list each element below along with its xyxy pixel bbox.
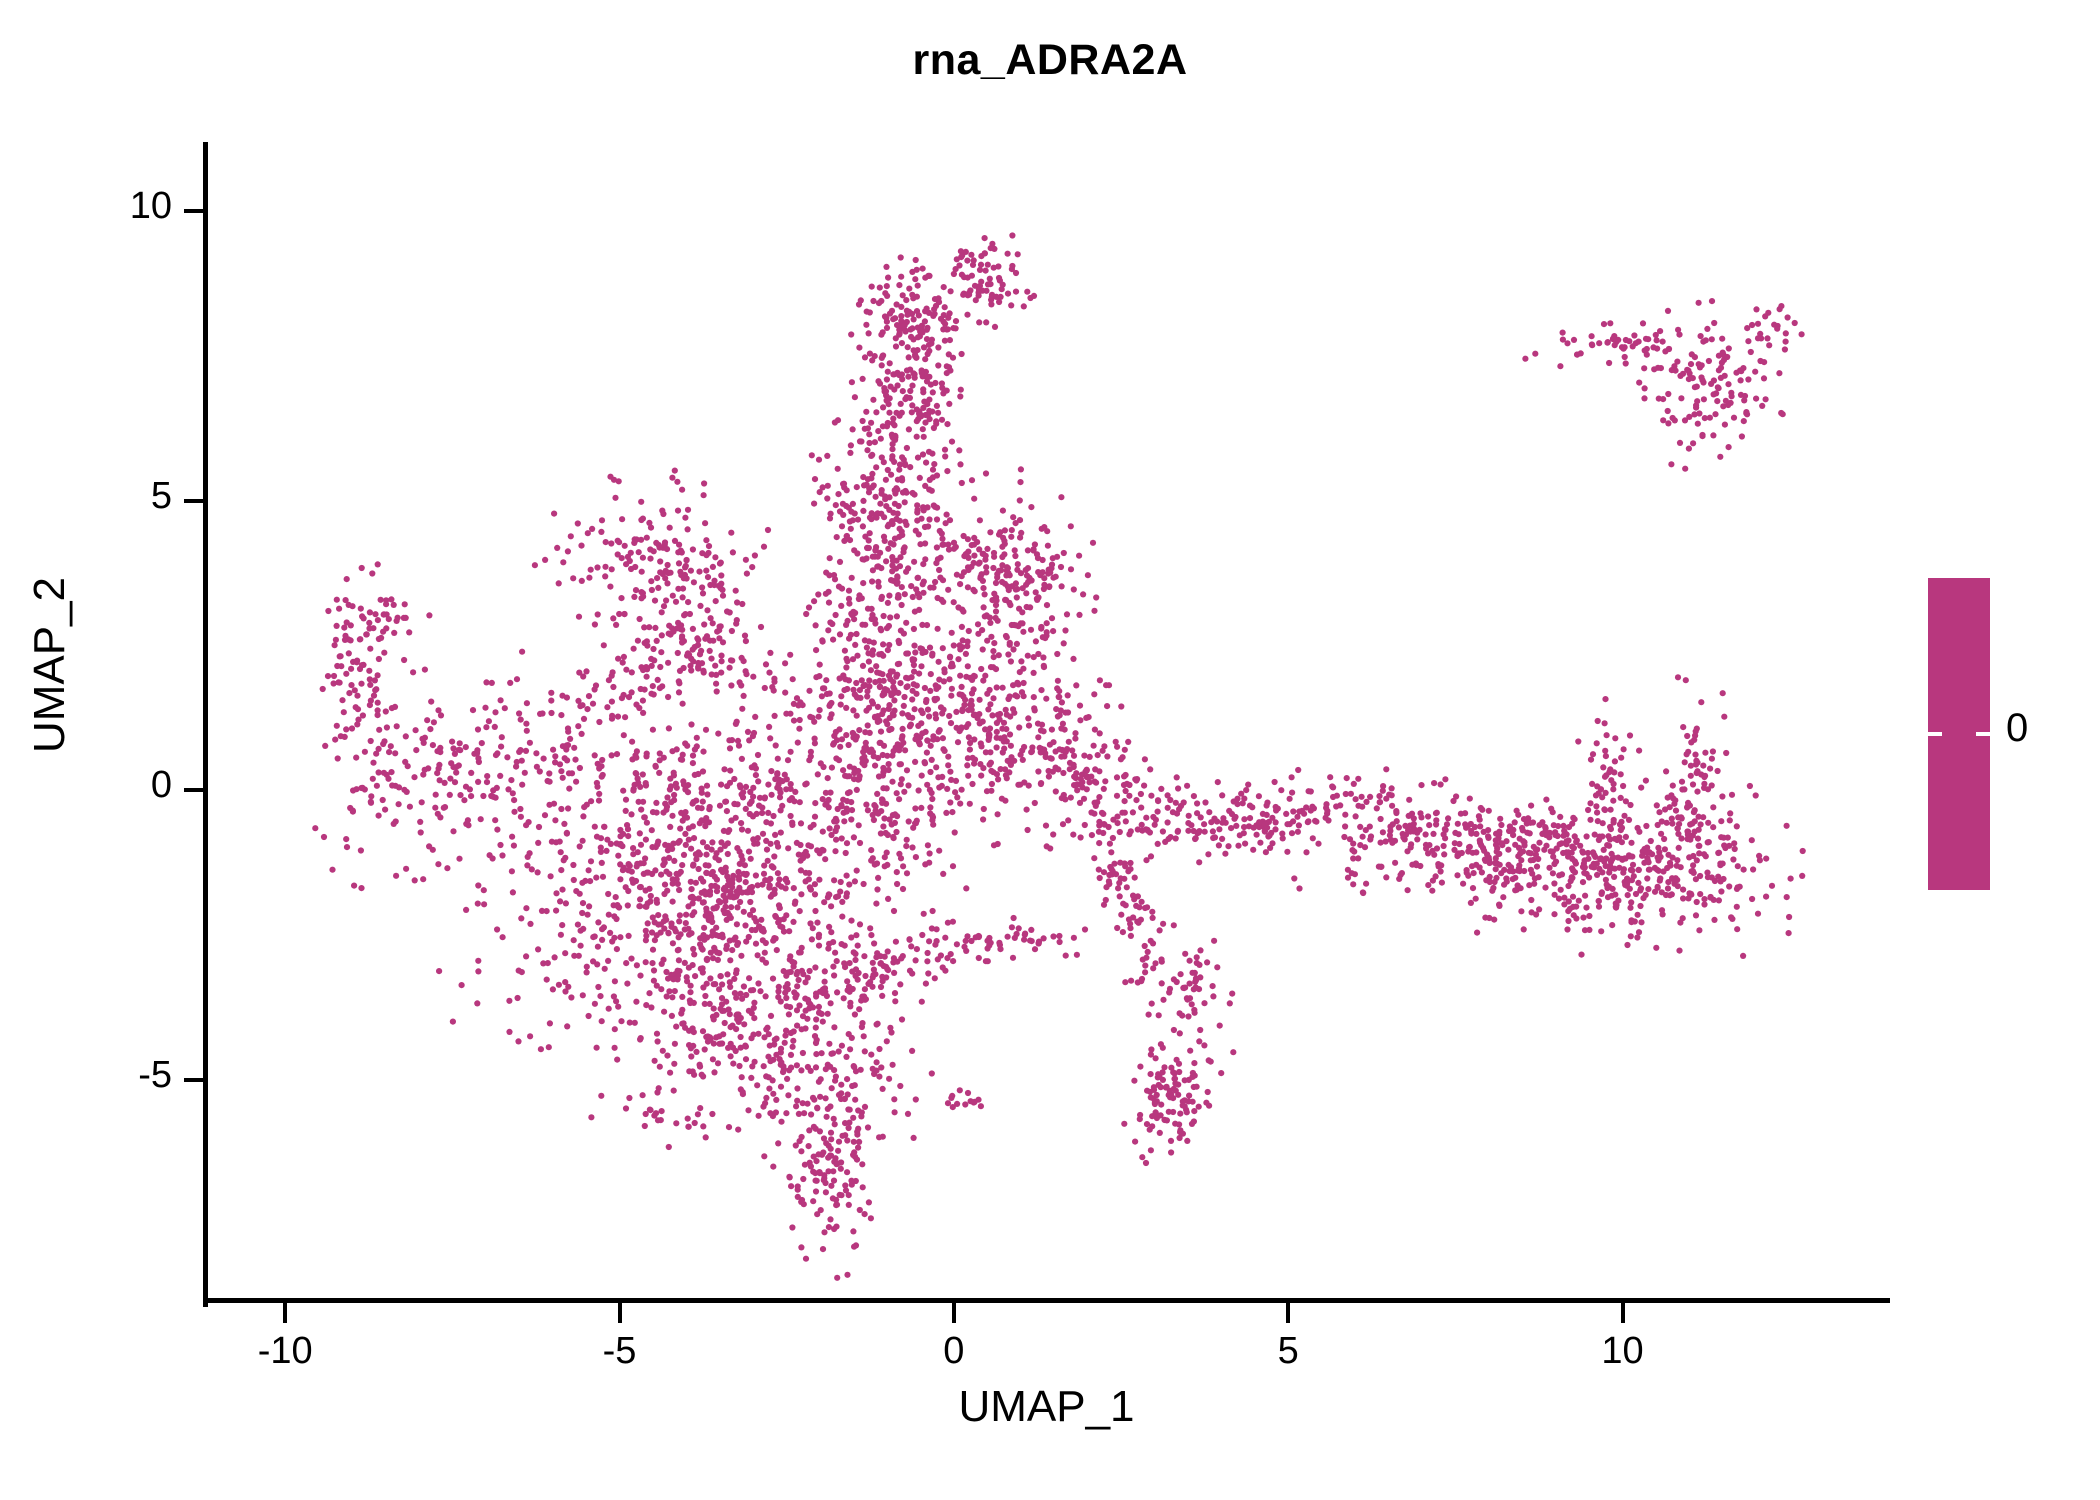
colorbar-tick-left [1928,732,1942,736]
legend-colorbar: 0 [1928,578,2098,898]
x-axis-label: UMAP_1 [203,1382,1890,1432]
y-tick-label: 10 [60,185,172,228]
y-tick-mark [184,788,204,792]
page-title: rna_ADRA2A [0,36,2100,85]
y-tick-label: 0 [60,764,172,807]
x-tick-label: -10 [215,1330,355,1373]
x-tick-mark [1621,1303,1625,1323]
scatter-plot-area [0,0,2100,1500]
x-tick-mark [1286,1303,1290,1323]
x-axis-line [203,1298,1890,1303]
y-tick-mark [184,1078,204,1082]
y-tick-mark [184,209,204,213]
x-tick-label: 0 [884,1330,1024,1373]
y-tick-mark [184,499,204,503]
y-axis-line [203,142,208,1307]
umap-figure: rna_ADRA2A 1050-5 -10-50510 UMAP_2 UMAP_… [0,0,2100,1500]
x-tick-label: -5 [550,1330,690,1373]
y-tick-label: 5 [60,475,172,518]
y-tick-label: -5 [60,1054,172,1097]
y-axis-label: UMAP_2 [25,515,75,815]
x-tick-label: 5 [1218,1330,1358,1373]
x-tick-mark [952,1303,956,1323]
x-tick-mark [618,1303,622,1323]
colorbar-tick-label: 0 [2006,706,2028,751]
colorbar-tick-right [1976,732,1990,736]
x-tick-mark [283,1303,287,1323]
x-tick-label: 10 [1553,1330,1693,1373]
scatter-points [312,232,1806,1281]
